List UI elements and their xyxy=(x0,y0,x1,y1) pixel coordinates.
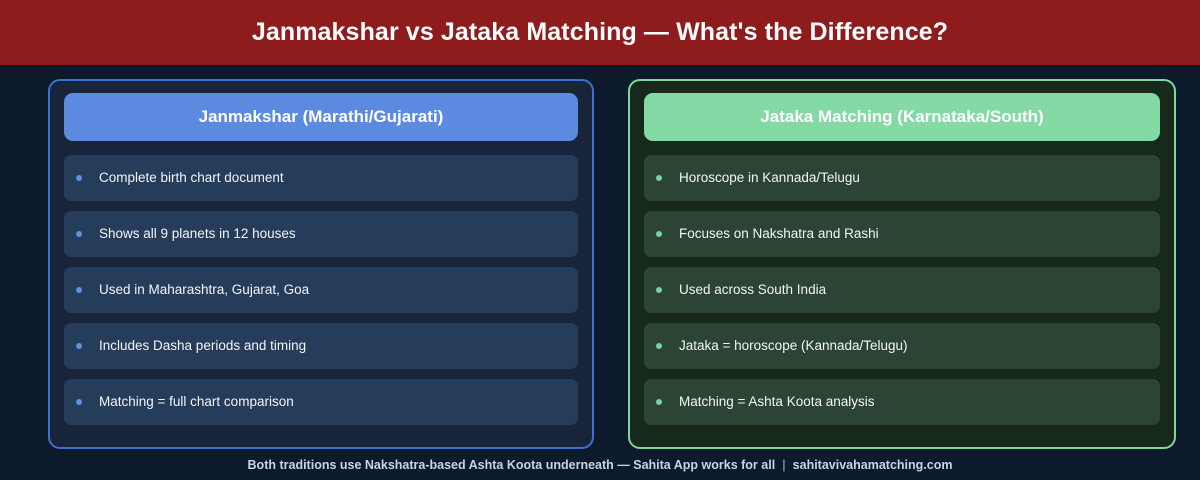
list-item: Includes Dasha periods and timing xyxy=(64,323,578,369)
list-item-label: Matching = Ashta Koota analysis xyxy=(679,395,875,409)
list-item: Matching = Ashta Koota analysis xyxy=(644,379,1160,425)
comparison-columns: Janmakshar (Marathi/Gujarati) Complete b… xyxy=(0,79,1200,449)
list-item: Complete birth chart document xyxy=(64,155,578,201)
list-item-label: Focuses on Nakshatra and Rashi xyxy=(679,227,879,241)
bullet-dot-icon xyxy=(656,287,662,293)
panel-jataka-header: Jataka Matching (Karnataka/South) xyxy=(644,93,1160,141)
list-item-label: Complete birth chart document xyxy=(99,171,284,185)
panel-jataka-list: Horoscope in Kannada/Telugu Focuses on N… xyxy=(644,155,1160,425)
bullet-dot-icon xyxy=(76,175,82,181)
list-item: Shows all 9 planets in 12 houses xyxy=(64,211,578,257)
page-title: Janmakshar vs Jataka Matching — What's t… xyxy=(252,18,948,47)
footer-note: Both traditions use Nakshatra-based Asht… xyxy=(248,458,776,472)
footer-website[interactable]: sahitavivahamatching.com xyxy=(793,458,953,472)
page-banner: Janmakshar vs Jataka Matching — What's t… xyxy=(0,0,1200,65)
list-item-label: Used across South India xyxy=(679,283,826,297)
bullet-dot-icon xyxy=(76,231,82,237)
list-item: Focuses on Nakshatra and Rashi xyxy=(644,211,1160,257)
list-item-label: Used in Maharashtra, Gujarat, Goa xyxy=(99,283,309,297)
panel-janmakshar: Janmakshar (Marathi/Gujarati) Complete b… xyxy=(48,79,594,449)
panel-janmakshar-list: Complete birth chart document Shows all … xyxy=(64,155,578,425)
list-item: Horoscope in Kannada/Telugu xyxy=(644,155,1160,201)
bullet-dot-icon xyxy=(656,343,662,349)
list-item: Matching = full chart comparison xyxy=(64,379,578,425)
footer: Both traditions use Nakshatra-based Asht… xyxy=(0,449,1200,480)
bullet-dot-icon xyxy=(656,399,662,405)
panel-jataka: Jataka Matching (Karnataka/South) Horosc… xyxy=(628,79,1176,449)
list-item-label: Matching = full chart comparison xyxy=(99,395,294,409)
list-item: Jataka = horoscope (Kannada/Telugu) xyxy=(644,323,1160,369)
bullet-dot-icon xyxy=(656,231,662,237)
bullet-dot-icon xyxy=(76,343,82,349)
panel-janmakshar-header: Janmakshar (Marathi/Gujarati) xyxy=(64,93,578,141)
bullet-dot-icon xyxy=(656,175,662,181)
bullet-dot-icon xyxy=(76,287,82,293)
footer-separator: | xyxy=(782,458,786,472)
list-item-label: Horoscope in Kannada/Telugu xyxy=(679,171,860,185)
list-item: Used in Maharashtra, Gujarat, Goa xyxy=(64,267,578,313)
list-item: Used across South India xyxy=(644,267,1160,313)
list-item-label: Jataka = horoscope (Kannada/Telugu) xyxy=(679,339,908,353)
list-item-label: Shows all 9 planets in 12 houses xyxy=(99,227,296,241)
list-item-label: Includes Dasha periods and timing xyxy=(99,339,306,353)
bullet-dot-icon xyxy=(76,399,82,405)
